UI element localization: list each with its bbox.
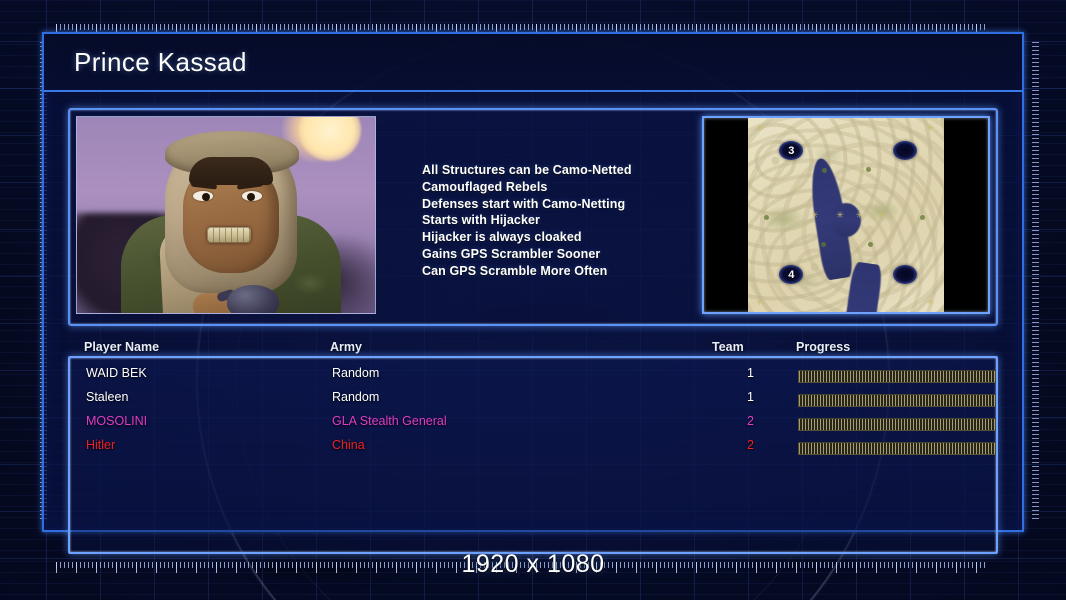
player-army-cell: China (332, 438, 365, 452)
player-name-cell: WAID BEK (86, 366, 147, 380)
minimap-resource-icon: ✳ (811, 211, 819, 220)
table-row[interactable]: StaleenRandom1 (70, 390, 996, 414)
player-name-cell: Staleen (86, 390, 128, 404)
column-header-progress: Progress (796, 340, 850, 354)
table-row[interactable]: WAID BEKRandom1 (70, 366, 996, 390)
player-army-cell: Random (332, 390, 379, 404)
minimap-resource-icon: ✳ (856, 211, 864, 220)
minimap-prop (821, 242, 826, 247)
player-progress-bar (798, 442, 996, 455)
title-bar: Prince Kassad (44, 34, 1022, 92)
game-screen: Prince Kassad All Structure (0, 0, 1066, 600)
page-title: Prince Kassad (74, 47, 247, 78)
portrait-pupil-right (247, 193, 255, 201)
table-row[interactable]: HitlerChina2 (70, 438, 996, 462)
minimap-frame[interactable]: ✳ ✳ ✳ ✳ ✳ ✳ ✳ ✳ 34 (702, 116, 990, 314)
player-team-cell: 1 (730, 390, 754, 404)
player-list-panel: WAID BEKRandom1StaleenRandom1MOSOLINIGLA… (68, 356, 998, 554)
minimap-resource-icon: ✳ (926, 124, 934, 133)
column-header-team: Team (712, 340, 744, 354)
minimap-resource-icon: ✳ (756, 298, 764, 307)
column-header-player-name: Player Name (84, 340, 159, 354)
minimap-prop (866, 167, 871, 172)
ruler-right (1026, 42, 1039, 522)
player-army-cell: GLA Stealth General (332, 414, 447, 428)
player-progress-bar (798, 394, 996, 407)
minimap[interactable]: ✳ ✳ ✳ ✳ ✳ ✳ ✳ ✳ 34 (748, 118, 944, 312)
minimap-resource-icon: ✳ (836, 211, 844, 220)
player-team-cell: 2 (730, 414, 754, 428)
minimap-resource-icon: ✳ (877, 211, 885, 220)
column-header-army: Army (330, 340, 362, 354)
player-team-cell: 1 (730, 366, 754, 380)
general-info-panel: All Structures can be Camo-NettedCamoufl… (68, 108, 998, 326)
portrait-pupil-left (202, 193, 210, 201)
portrait-kettle (227, 285, 279, 314)
player-team-cell: 2 (730, 438, 754, 452)
player-progress-bar (798, 418, 996, 431)
general-portrait (76, 116, 376, 314)
player-army-cell: Random (332, 366, 379, 380)
player-table-header: Player Name Army Team Progress (84, 340, 984, 356)
player-name-cell: MOSOLINI (86, 414, 147, 428)
player-name-cell: Hitler (86, 438, 115, 452)
minimap-prop (764, 215, 769, 220)
minimap-resource-icon: ✳ (756, 124, 764, 133)
portrait-teeth (207, 227, 251, 243)
minimap-prop (868, 242, 873, 247)
table-row[interactable]: MOSOLINIGLA Stealth General2 (70, 414, 996, 438)
player-progress-bar (798, 370, 996, 383)
minimap-resource-icon: ✳ (926, 298, 934, 307)
resolution-caption: 1920 x 1080 (0, 550, 1066, 579)
